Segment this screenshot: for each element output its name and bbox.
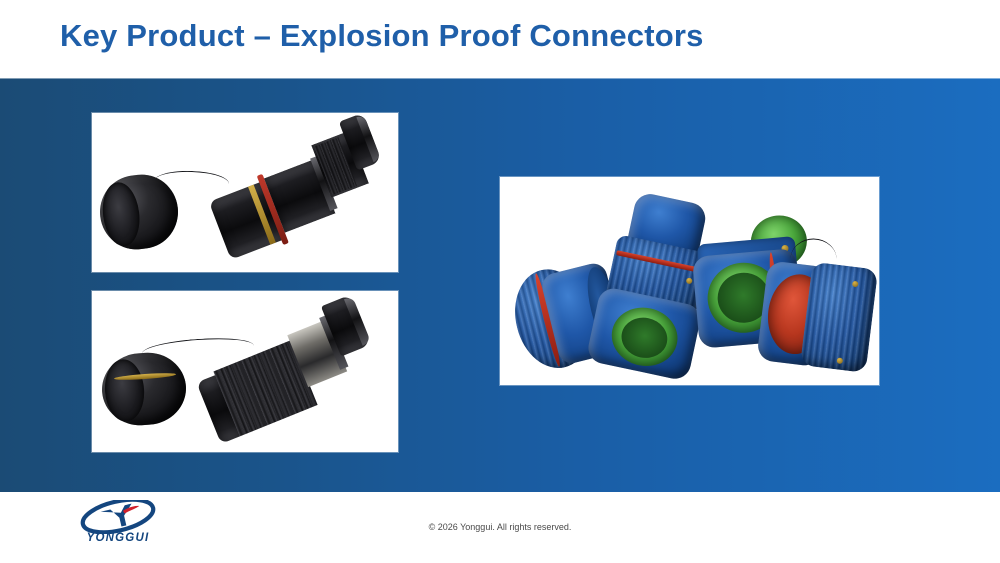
page-title: Key Product – Explosion Proof Connectors bbox=[60, 18, 704, 54]
body-top-divider bbox=[0, 78, 1000, 79]
slide: Key Product – Explosion Proof Connectors bbox=[0, 0, 1000, 563]
logo-wordmark: YONGGUI bbox=[58, 532, 178, 544]
dust-cap-face bbox=[99, 180, 142, 248]
product-image-black-connector-with-dust-cap bbox=[92, 113, 398, 272]
connector-assembly bbox=[184, 291, 397, 452]
cap-knurl-ring bbox=[800, 262, 878, 373]
blue-cap-right bbox=[756, 256, 879, 377]
product-photo-scene bbox=[500, 177, 879, 385]
product-image-blue-connector-assembly bbox=[500, 177, 879, 385]
product-photo-scene bbox=[92, 113, 398, 272]
connector-assembly bbox=[195, 113, 398, 272]
company-logo: YONGGUI bbox=[58, 500, 178, 550]
dust-cap bbox=[100, 350, 189, 428]
product-image-black-ribbed-connector bbox=[92, 291, 398, 452]
dust-cap-face bbox=[103, 358, 146, 422]
slide-header: Key Product – Explosion Proof Connectors bbox=[0, 0, 1000, 78]
product-photo-scene bbox=[92, 291, 398, 452]
yonggui-ellipse-logo-icon bbox=[58, 500, 178, 534]
